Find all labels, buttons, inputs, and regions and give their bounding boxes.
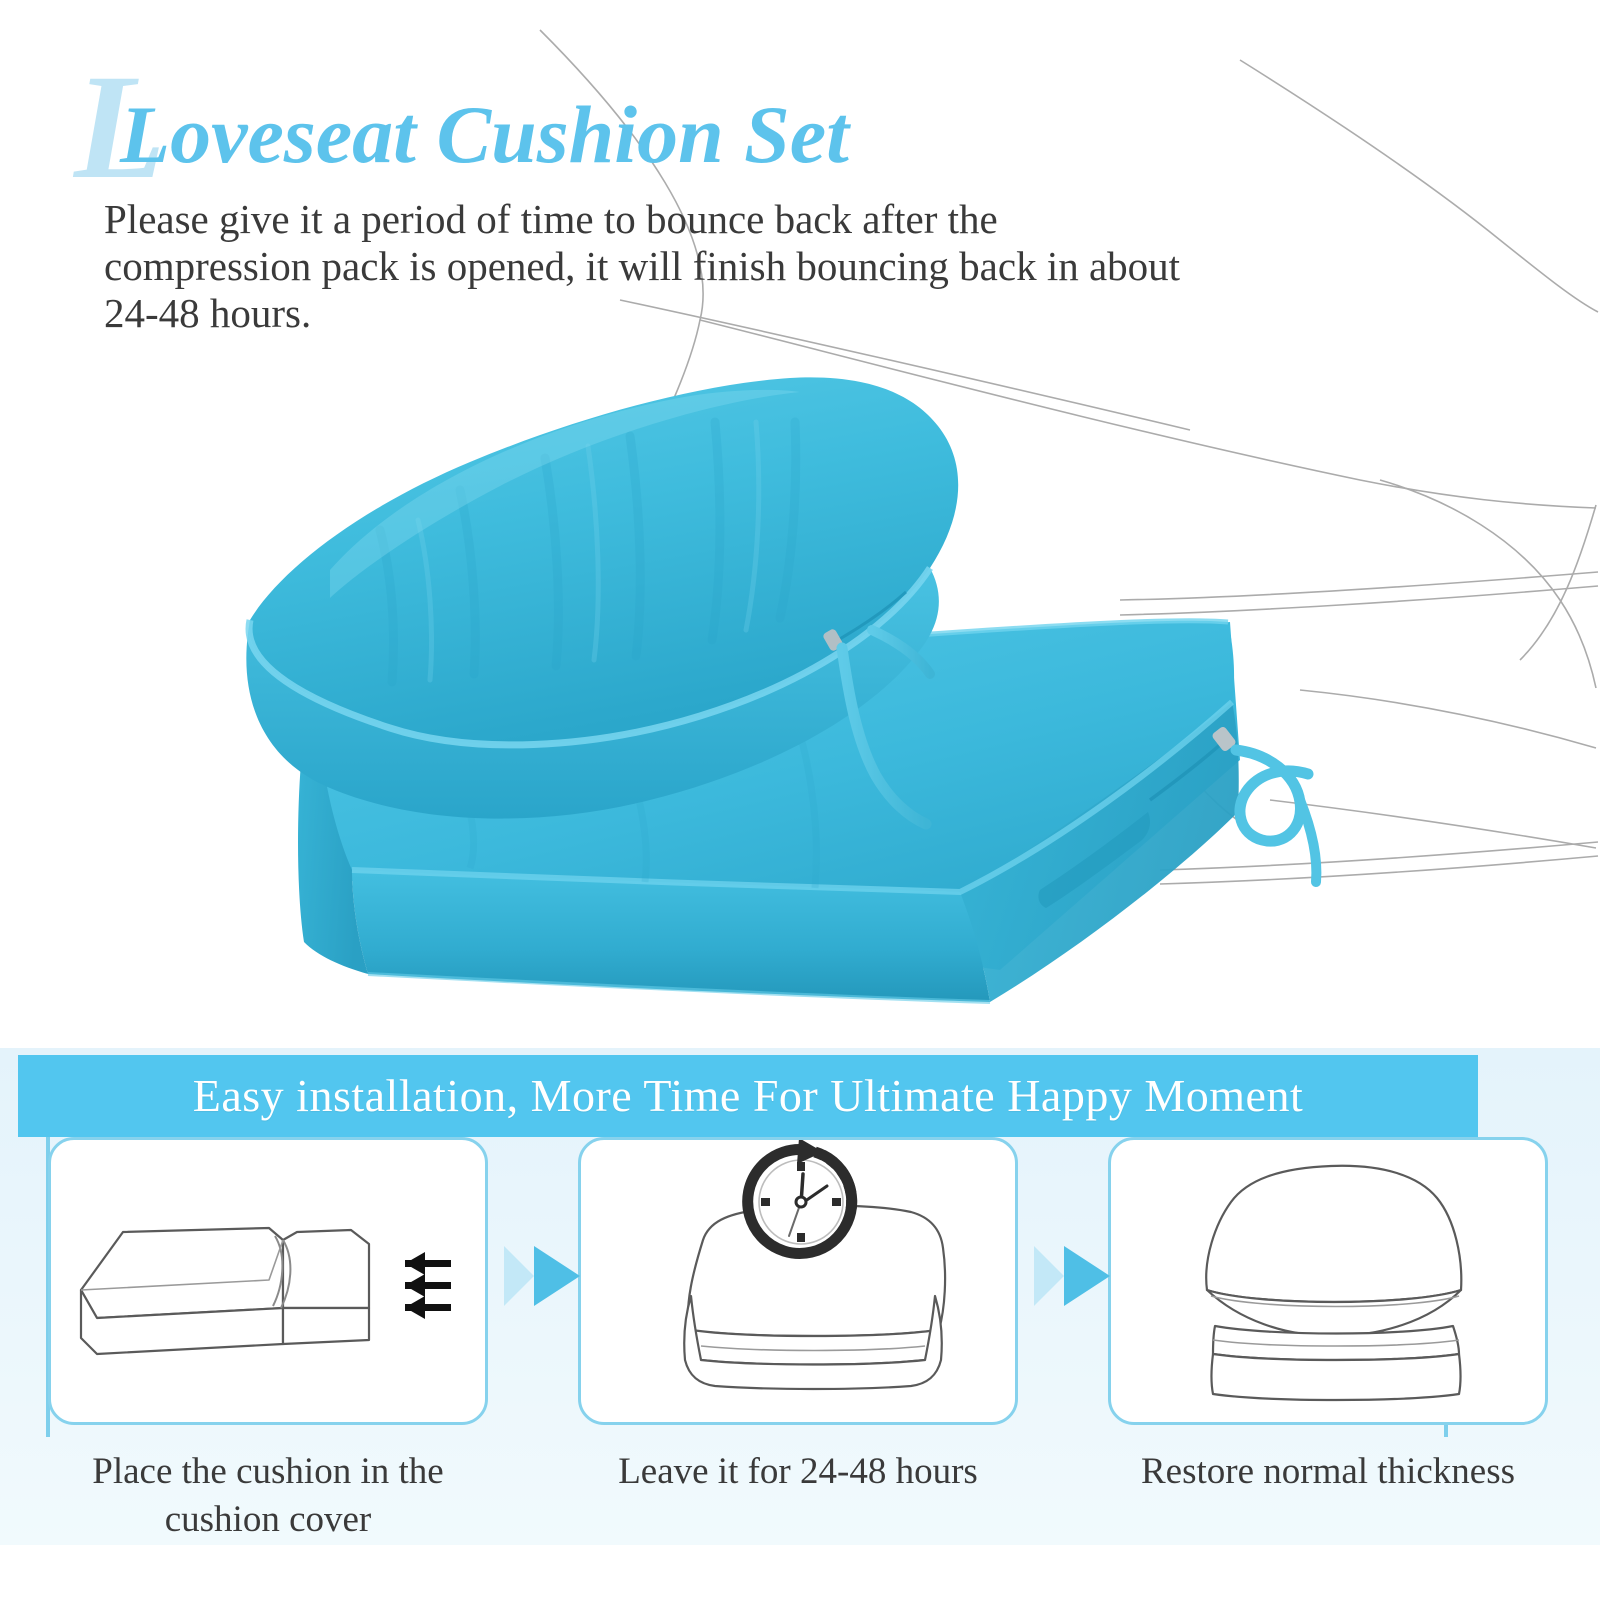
- step-cards: [0, 1137, 1600, 1437]
- step-captions: Place the cushion in the cushion cover L…: [0, 1448, 1600, 1558]
- intro-paragraph: Please give it a period of time to bounc…: [104, 196, 1194, 337]
- cushion-sliding-into-cover-icon: [51, 1140, 488, 1425]
- seat-cushion-tie: [1236, 750, 1316, 882]
- step-caption-3: Restore normal thickness: [1108, 1448, 1548, 1496]
- instructions-banner: Easy installation, More Time For Ultimat…: [18, 1055, 1478, 1137]
- hero-product-image: [0, 330, 1340, 1030]
- double-chevron-right-icon-1: [500, 1238, 592, 1314]
- push-arrows-icon: [405, 1252, 451, 1319]
- header-block: L Loveseat Cushion Set Please give it a …: [0, 0, 1600, 360]
- page-title: Loveseat Cushion Set: [120, 92, 849, 178]
- restored-lofted-cushion-icon: [1111, 1140, 1548, 1425]
- double-chevron-right-icon-2: [1030, 1238, 1122, 1314]
- compressed-cushion-with-clock-icon: [581, 1140, 1018, 1425]
- step-caption-1: Place the cushion in the cushion cover: [48, 1448, 488, 1544]
- step-card-1: [48, 1137, 488, 1425]
- clock-icon: [748, 1140, 852, 1253]
- step-caption-2: Leave it for 24-48 hours: [578, 1448, 1018, 1496]
- step-card-2: [578, 1137, 1018, 1425]
- step-card-3: [1108, 1137, 1548, 1425]
- infographic-canvas: L Loveseat Cushion Set Please give it a …: [0, 0, 1600, 1600]
- banner-text: Easy installation, More Time For Ultimat…: [193, 1073, 1303, 1119]
